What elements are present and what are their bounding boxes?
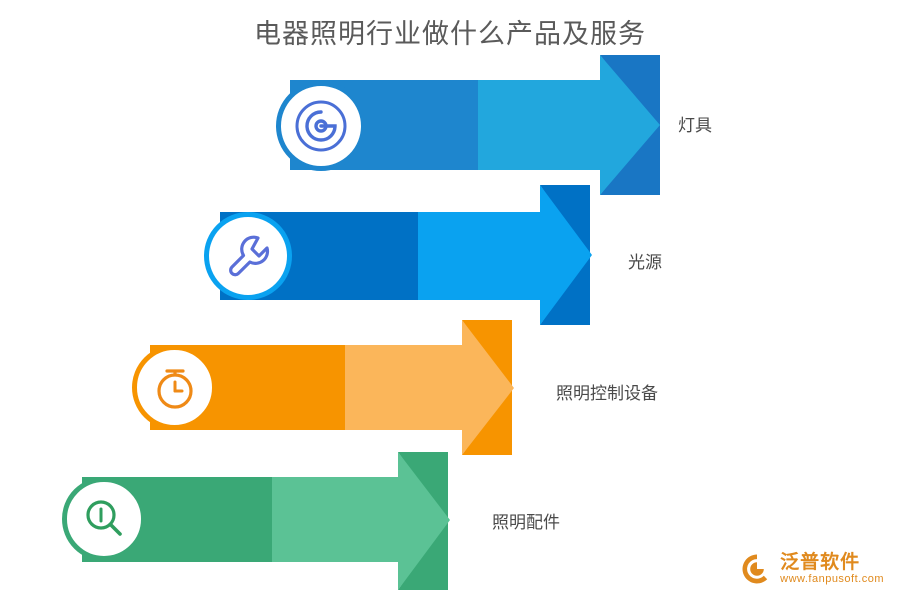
watermark: 泛普软件 www.fanpusoft.com bbox=[740, 552, 884, 586]
page-title: 电器照明行业做什么产品及服务 bbox=[0, 12, 900, 51]
arrow-1-seg-light bbox=[478, 55, 660, 195]
diagram-canvas: 电器照明行业做什么产品及服务 灯具 光源 bbox=[0, 0, 900, 600]
target-swirl-icon bbox=[293, 98, 349, 154]
row-1-icon-circle bbox=[276, 81, 366, 171]
arrow-1-tail bbox=[600, 55, 660, 195]
row-2-label: 光源 bbox=[628, 248, 662, 273]
row-1-label: 灯具 bbox=[678, 111, 712, 136]
watermark-url: www.fanpusoft.com bbox=[780, 573, 884, 585]
arrow-4-seg-light bbox=[272, 452, 450, 590]
stopwatch-icon bbox=[150, 363, 200, 413]
arrow-2-seg-light bbox=[418, 185, 592, 325]
arrow-2-tail bbox=[540, 185, 590, 325]
arrow-3-tail bbox=[462, 320, 512, 455]
arrow-3-seg-light bbox=[345, 320, 514, 455]
watermark-brand: 泛普软件 bbox=[780, 552, 884, 573]
watermark-text: 泛普软件 www.fanpusoft.com bbox=[780, 552, 884, 586]
row-2-icon-circle bbox=[204, 212, 292, 300]
row-3-icon-circle bbox=[132, 345, 217, 430]
search-icon bbox=[79, 494, 129, 544]
arrow-4-tail bbox=[398, 452, 448, 590]
wrench-icon bbox=[222, 230, 274, 282]
row-4-icon-circle bbox=[62, 477, 146, 561]
row-3-label: 照明控制设备 bbox=[556, 379, 658, 404]
row-4-label: 照明配件 bbox=[492, 508, 560, 533]
fanpu-logo-icon bbox=[740, 552, 774, 586]
